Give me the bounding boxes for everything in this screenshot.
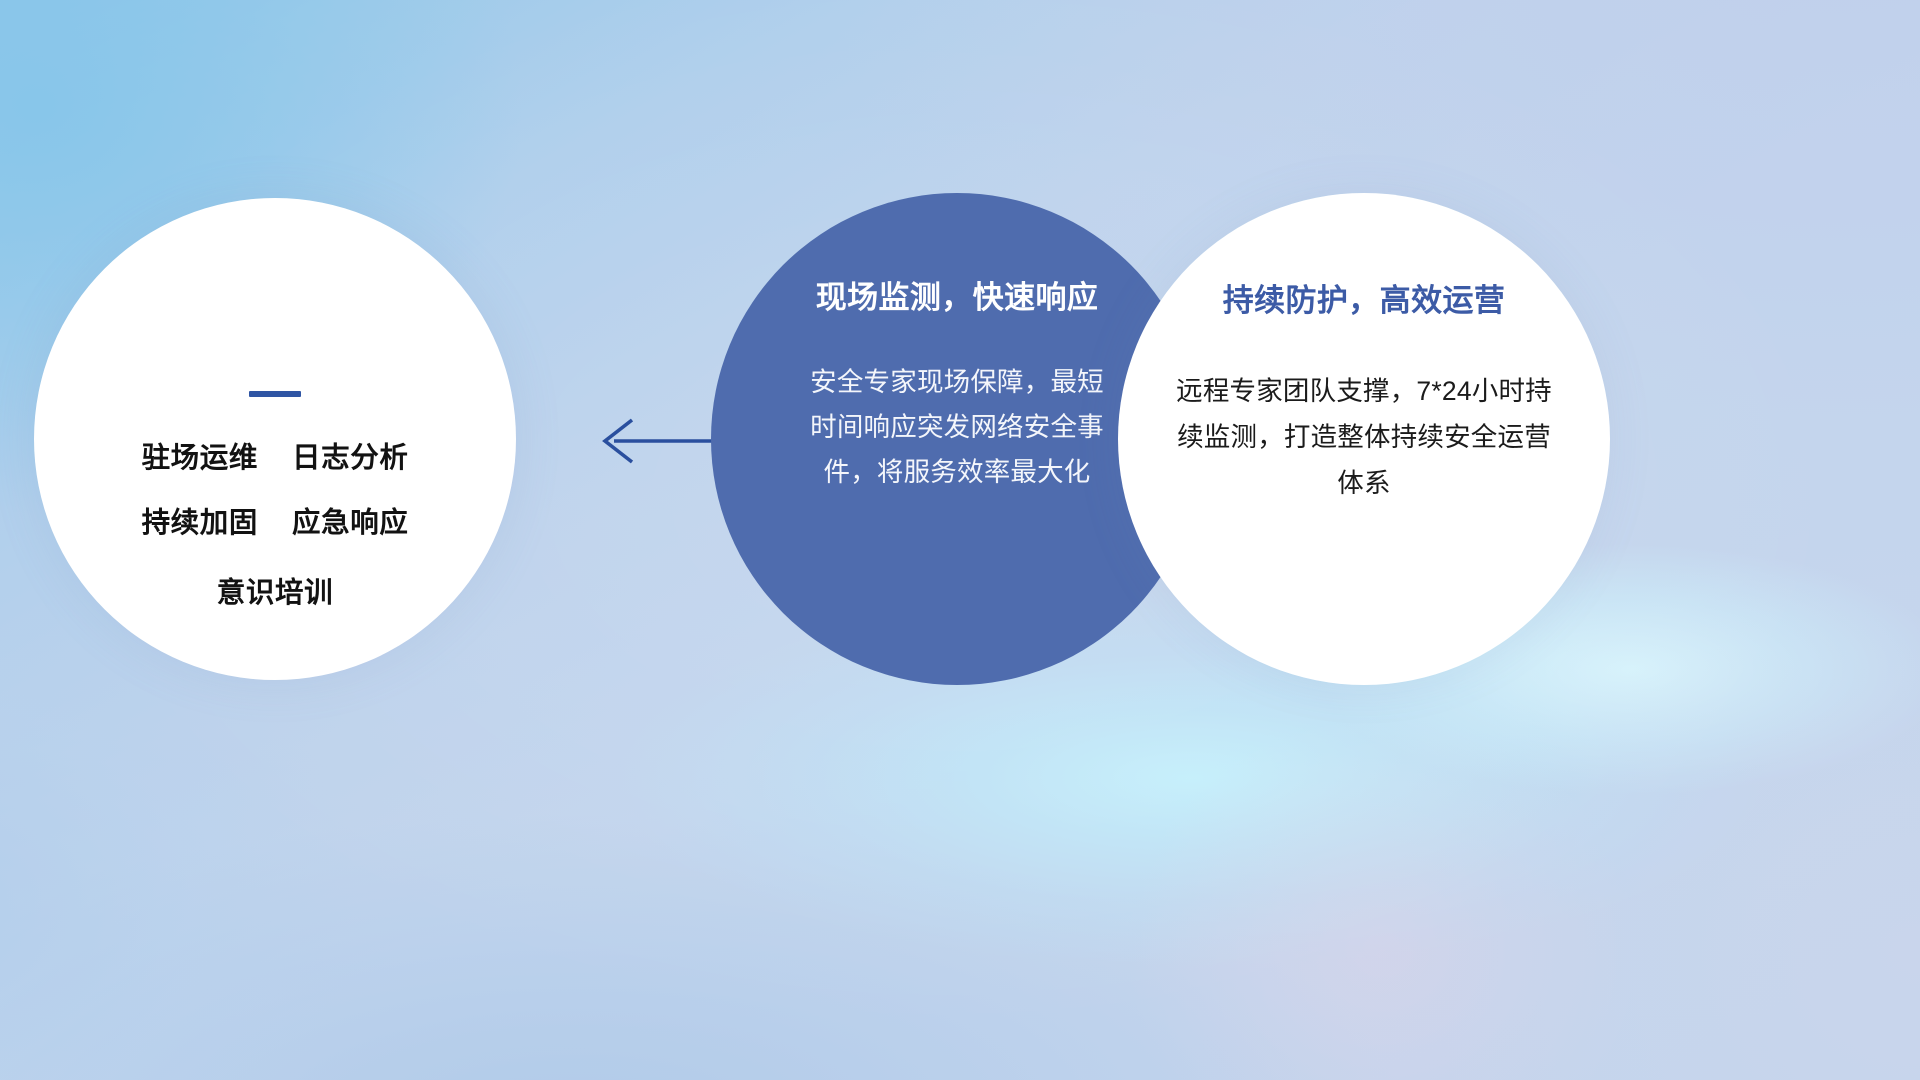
- continuous-protection-title: 持续防护，高效运营: [1223, 285, 1506, 316]
- onsite-monitoring-body: 安全专家现场保障，最短时间响应突发网络安全事件，将服务效率最大化: [797, 360, 1117, 495]
- continuous-protection-body: 远程专家团队支撑，7*24小时持续监测，打造整体持续安全运营体系: [1174, 368, 1554, 506]
- continuous-protection-circle[interactable]: 持续防护，高效运营 远程专家团队支撑，7*24小时持续监测，打造整体持续安全运营…: [1118, 193, 1610, 685]
- service-line-3: 意识培训: [217, 579, 333, 608]
- horizontal-dash-icon: [249, 391, 301, 397]
- service-capabilities-circle[interactable]: 驻场运维 日志分析 持续加固 应急响应 意识培训: [34, 198, 516, 680]
- slide-canvas: 驻场运维 日志分析 持续加固 应急响应 意识培训 现场监测，快速响应 安全专家现…: [0, 0, 1920, 1080]
- service-line-1: 驻场运维 日志分析: [142, 444, 409, 473]
- service-line-2: 持续加固 应急响应: [142, 509, 409, 538]
- onsite-monitoring-title: 现场监测，快速响应: [816, 282, 1099, 313]
